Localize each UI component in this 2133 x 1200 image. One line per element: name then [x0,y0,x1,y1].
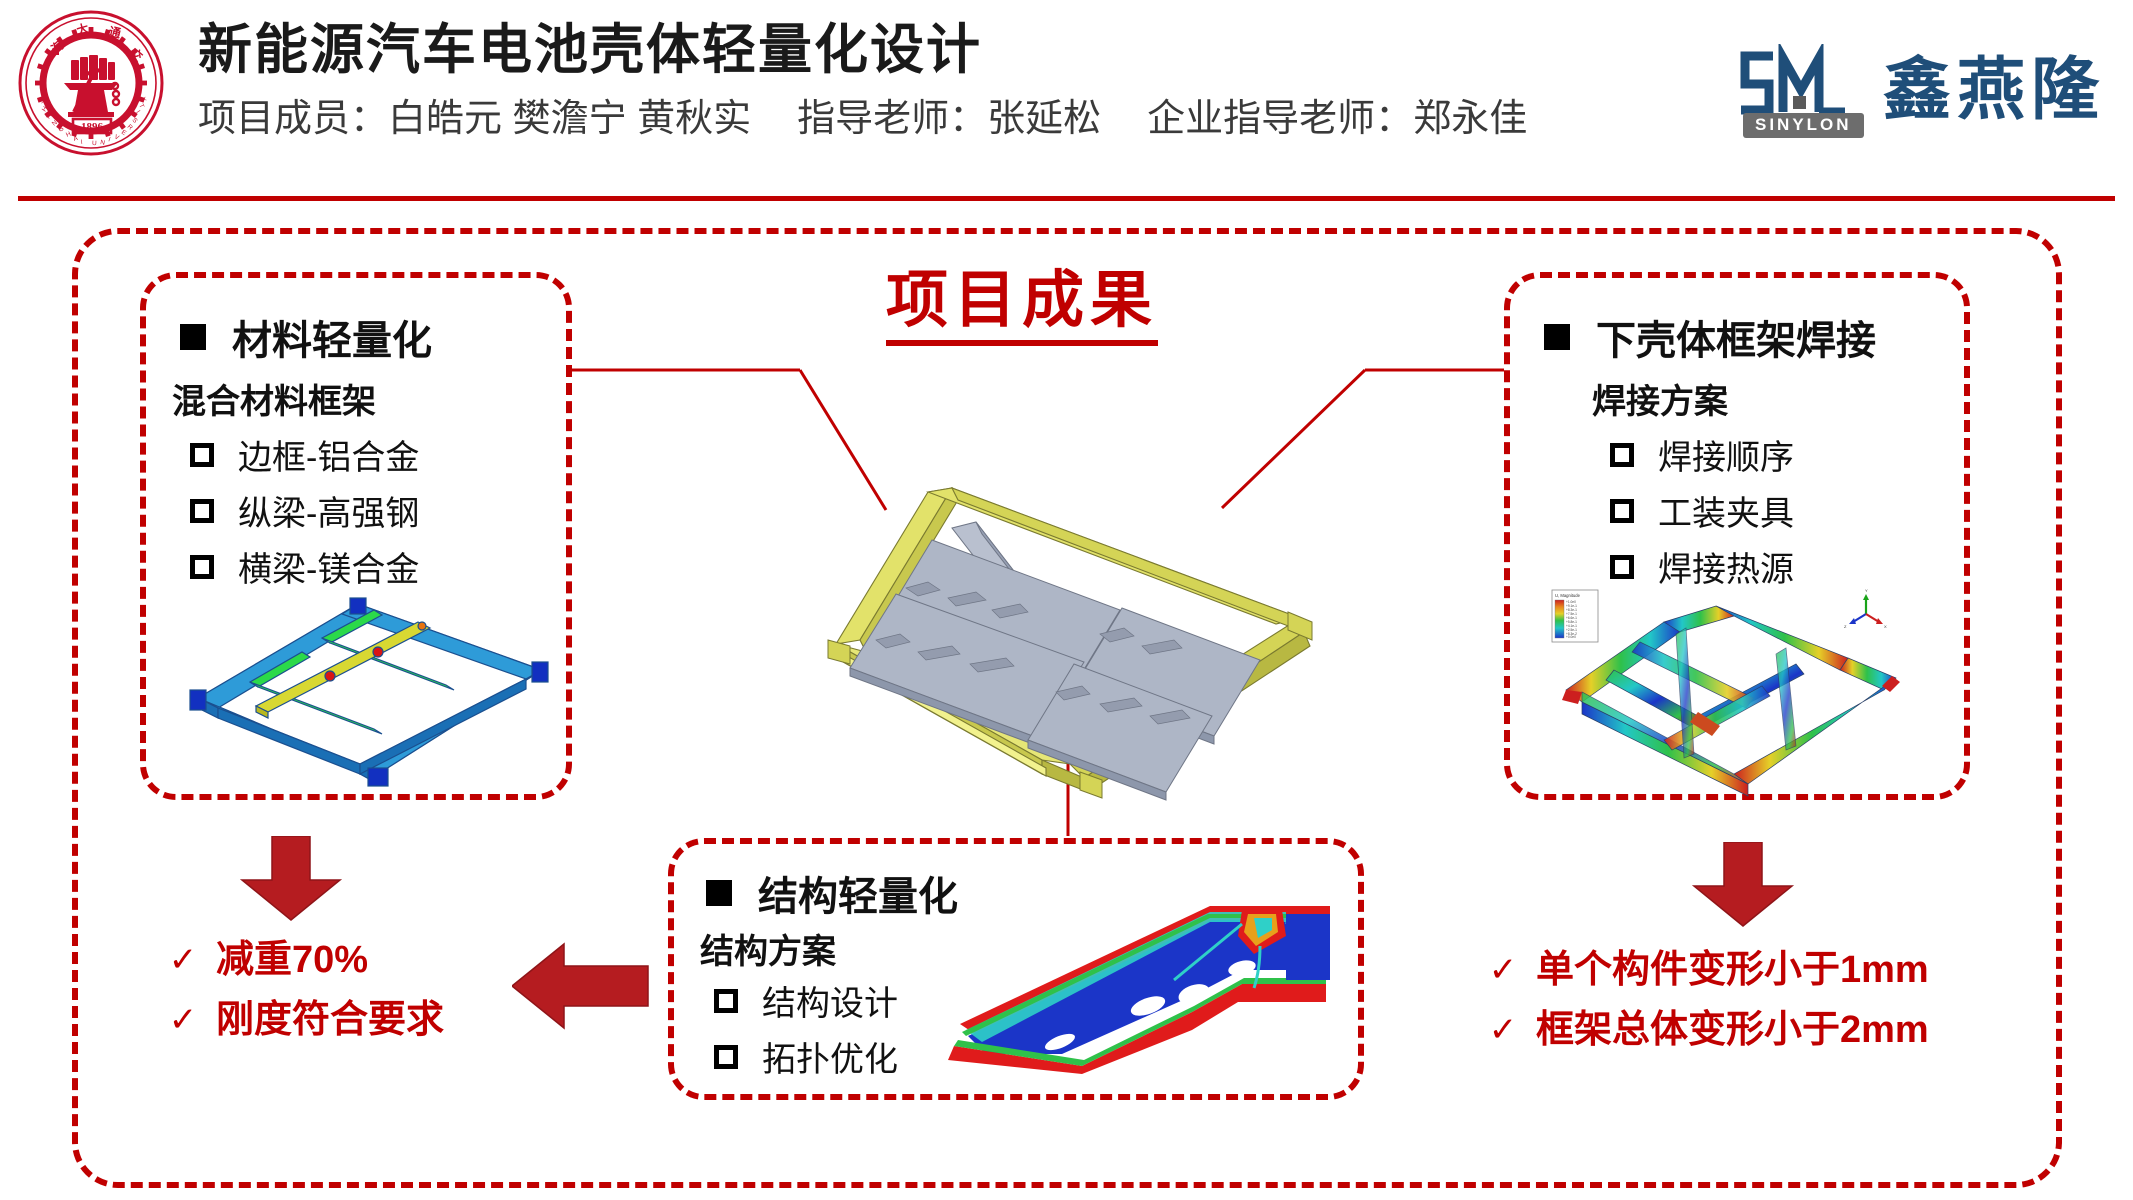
results-left-list: ✓ 减重70% ✓ 刚度符合要求 [168,930,444,1050]
title-block: 新能源汽车电池壳体轻量化设计 项目成员：白皓元 樊澹宁 黄秋实指导老师：张延松企… [198,18,1527,144]
axis-triad-icon: Y X Z [1844,588,1887,629]
card-welding-heading-text: 下壳体框架焊接 [1596,308,1876,366]
sjtu-seal-logo: 1896 海 大 通 交 S H A N G H A I U [16,8,166,158]
card-material-subheading: 混合材料框架 [172,374,376,423]
arrow-down-right [1688,842,1798,933]
result-left-item-2-text: 刚度符合要求 [216,990,444,1050]
page-title: 新能源汽车电池壳体轻量化设计 [198,18,1527,82]
sinylon-wordmark-tag: SINYLON [1743,113,1864,138]
svg-text:Y: Y [1865,588,1868,593]
card-structure-bullet-2-text: 拓扑优化 [762,1032,898,1081]
members-value: 白皓元 樊澹宁 黄秋实 [388,98,751,140]
svg-text:Z: Z [1844,624,1847,629]
svg-text:E: E [120,129,128,137]
contour-legend: U, Magnitude +1.0e0+9.1e-1 +8.3e-1+7.5e-… [1552,590,1598,642]
hollow-square-bullet-icon [1610,443,1634,467]
result-right-item-2-text: 框架总体变形小于2mm [1536,1000,1929,1060]
svg-text:I: I [80,139,83,146]
hollow-square-bullet-icon [190,499,214,523]
card-structure-bullet-1-text: 结构设计 [762,976,898,1025]
card-welding-bullet-3: 焊接热源 [1610,542,1794,591]
svg-text:N: N [100,139,106,147]
section-title-text: 项目成果 [886,266,1158,336]
result-right-item-1-text: 单个构件变形小于1mm [1536,940,1929,1000]
svg-text:I: I [134,109,141,115]
filled-square-bullet-icon [1544,324,1570,350]
card-material-heading-text: 材料轻量化 [232,308,432,366]
check-icon: ✓ [168,990,198,1050]
section-title: 项目成果 [886,266,1158,346]
check-icon: ✓ [1488,1000,1518,1060]
svg-text:A: A [73,135,80,143]
sinylon-sm-monogram-icon: SINYLON [1729,44,1857,136]
filled-square-bullet-icon [706,880,732,906]
card-welding-bullet-2: 工装夹具 [1610,486,1794,535]
svg-text:U: U [92,140,97,147]
fea-frame-deformation-contour-figure: U, Magnitude +1.0e0+9.1e-1 +8.3e-1+7.5e-… [1548,586,1944,812]
svg-text:U, Magnitude: U, Magnitude [1555,593,1581,598]
result-left-item-1-text: 减重70% [216,930,368,990]
card-welding-bullet-1: 焊接顺序 [1610,430,1794,479]
hollow-square-bullet-icon [190,555,214,579]
advisor-value: 张延松 [987,98,1101,140]
card-structure-bullet-2: 拓扑优化 [714,1032,898,1081]
svg-text:+0.0e0: +0.0e0 [1566,635,1576,639]
results-right-list: ✓ 单个构件变形小于1mm ✓ 框架总体变形小于2mm [1488,940,1929,1060]
card-welding-bullet-2-text: 工装夹具 [1658,486,1794,535]
hollow-square-bullet-icon [190,443,214,467]
card-structure-heading-text: 结构轻量化 [758,864,958,922]
card-structure-subheading: 结构方案 [700,924,836,973]
section-title-underline [886,340,1158,346]
svg-text:大: 大 [75,20,91,38]
card-welding-bullet-1-text: 焊接顺序 [1658,430,1794,479]
slide-root: 1896 海 大 通 交 S H A N G H A I U [0,0,2133,1200]
card-material-bullet-1: 边框-铝合金 [190,430,419,479]
result-right-item-1: ✓ 单个构件变形小于1mm [1488,940,1929,1000]
card-material-bullet-1-text: 边框-铝合金 [238,430,419,479]
card-welding-heading: 下壳体框架焊接 [1544,308,1876,366]
card-welding-bullet-3-text: 焊接热源 [1658,542,1794,591]
check-icon: ✓ [1488,940,1518,1000]
svg-text:T: T [137,103,145,110]
card-material-heading: 材料轻量化 [180,308,432,366]
logo-year: 1896 [81,121,104,133]
members-label: 项目成员： [198,98,388,140]
sinylon-chinese-name: 鑫燕隆 [1883,52,2105,128]
card-material-bullet-2-text: 纵梁-高强钢 [238,486,419,535]
hollow-square-bullet-icon [1610,555,1634,579]
sinylon-company-logo: SINYLON 鑫燕隆 [1729,44,2105,136]
header-divider [18,196,2115,201]
svg-text:H: H [65,130,72,138]
fea-frame-stiffness-contour-figure [182,578,558,794]
result-right-item-2: ✓ 框架总体变形小于2mm [1488,1000,1929,1060]
company-advisor-label: 企业指导老师： [1147,98,1413,140]
check-icon: ✓ [168,930,198,990]
svg-text:通: 通 [107,23,122,40]
battery-lower-case-frame-3d-model [690,448,1350,828]
credits-line: 项目成员：白皓元 樊澹宁 黄秋实指导老师：张延松企业指导老师：郑永佳 [198,94,1527,144]
hollow-square-bullet-icon [1610,499,1634,523]
slide-header: 1896 海 大 通 交 S H A N G H A I U [0,0,2133,196]
svg-text:X: X [1884,624,1887,629]
card-material-bullet-2: 纵梁-高强钢 [190,486,419,535]
filled-square-bullet-icon [180,324,206,350]
svg-text:I: I [107,136,111,143]
result-left-item-2: ✓ 刚度符合要求 [168,990,444,1050]
hollow-square-bullet-icon [714,1045,738,1069]
card-structure-bullet-1: 结构设计 [714,976,898,1025]
arrow-left-to-results [512,938,652,1039]
card-welding-subheading: 焊接方案 [1592,374,1728,423]
company-advisor-value: 郑永佳 [1413,98,1527,140]
hollow-square-bullet-icon [714,989,738,1013]
card-structure-heading: 结构轻量化 [706,864,958,922]
topology-optimization-beam-contour-figure [942,884,1332,1074]
result-left-item-1: ✓ 减重70% [168,930,444,990]
advisor-label: 指导老师： [797,98,987,140]
arrow-down-left [236,836,346,927]
